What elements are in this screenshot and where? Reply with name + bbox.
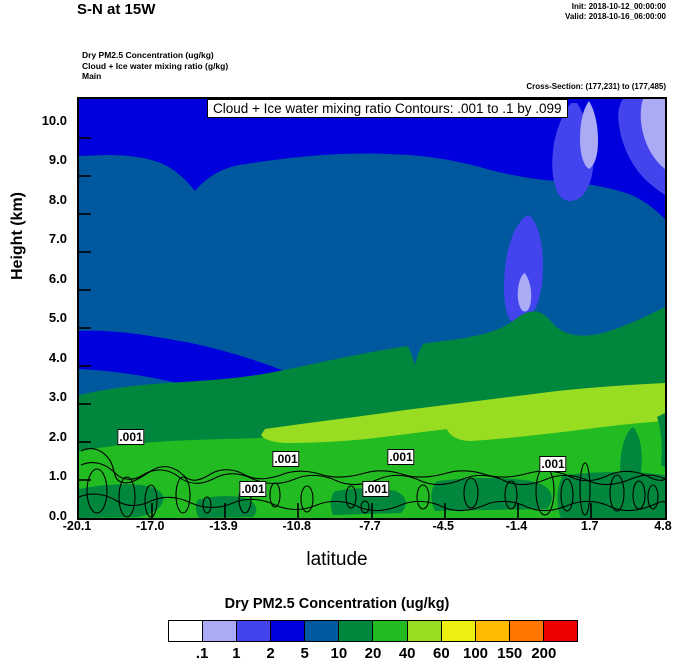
- y-tick-label: 4.0: [7, 350, 67, 365]
- contour-value-label: .001: [387, 449, 414, 465]
- y-tick-label: 3.0: [7, 389, 67, 404]
- valid-time-label: Valid: 2018-10-16_06:00:00: [565, 12, 666, 22]
- run-metadata: Init: 2018-10-12_00:00:00 Valid: 2018-10…: [565, 2, 666, 22]
- init-time-label: Init: 2018-10-12_00:00:00: [565, 2, 666, 12]
- field-description: Dry PM2.5 Concentration (ug/kg) Cloud + …: [82, 50, 228, 82]
- x-tick-label: -1.4: [487, 519, 547, 533]
- field-line-contour: Cloud + Ice water mixing ratio (g/kg): [82, 61, 228, 72]
- cross-section-plot-page: S-N at 15W Init: 2018-10-12_00:00:00 Val…: [0, 0, 674, 668]
- y-tick-label: 10.0: [7, 113, 67, 128]
- colorbar-swatch-0: [169, 621, 203, 641]
- contour-title-box: Cloud + Ice water mixing ratio Contours:…: [207, 99, 568, 118]
- x-tick-label: -4.5: [413, 519, 473, 533]
- x-tick-label: -17.0: [120, 519, 180, 533]
- contour-field: [79, 99, 665, 518]
- y-tick-label: 5.0: [7, 310, 67, 325]
- colorbar-title: Dry PM2.5 Concentration (ug/kg): [0, 596, 674, 612]
- contour-value-label: .001: [362, 481, 389, 497]
- colorbar-tick-label: 200: [522, 645, 566, 662]
- y-tick-label: 9.0: [7, 152, 67, 167]
- colorbar-swatch-3: [271, 621, 305, 641]
- field-line-fill: Dry PM2.5 Concentration (ug/kg): [82, 50, 228, 61]
- colorbar-swatch-11: [544, 621, 577, 641]
- y-axis-title: Height (km): [9, 176, 27, 296]
- contour-value-label: .001: [239, 481, 266, 497]
- colorbar-swatch-7: [408, 621, 442, 641]
- x-tick-label: -10.8: [267, 519, 327, 533]
- page-title: S-N at 15W: [77, 1, 155, 18]
- colorbar-swatch-10: [510, 621, 544, 641]
- colorbar-swatch-4: [305, 621, 339, 641]
- x-tick-label: -13.9: [194, 519, 254, 533]
- colorbar-swatch-9: [476, 621, 510, 641]
- contour-value-label: .001: [539, 456, 566, 472]
- plot-area: [77, 97, 667, 520]
- colorbar-swatch-6: [373, 621, 407, 641]
- colorbar-swatch-5: [339, 621, 373, 641]
- cross-section-coordinates: Cross-Section: (177,231) to (177,485): [526, 82, 666, 91]
- colorbar-swatch-2: [237, 621, 271, 641]
- x-tick-label: -20.1: [47, 519, 107, 533]
- contour-value-label: .001: [272, 451, 299, 467]
- colorbar-swatch-1: [203, 621, 237, 641]
- y-tick-label: 2.0: [7, 429, 67, 444]
- x-tick-label: -7.7: [340, 519, 400, 533]
- fill-region-20-40-notch2: [595, 321, 603, 331]
- x-tick-label: 4.8: [633, 519, 674, 533]
- y-tick-label: 1.0: [7, 468, 67, 483]
- colorbar: [168, 620, 578, 642]
- field-line-domain: Main: [82, 71, 228, 82]
- x-tick-label: 1.7: [560, 519, 620, 533]
- x-axis-title: latitude: [0, 549, 674, 571]
- colorbar-swatch-8: [442, 621, 476, 641]
- colorbar-tick-labels: .112510204060100150200: [168, 645, 578, 665]
- contour-value-label: .001: [117, 429, 144, 445]
